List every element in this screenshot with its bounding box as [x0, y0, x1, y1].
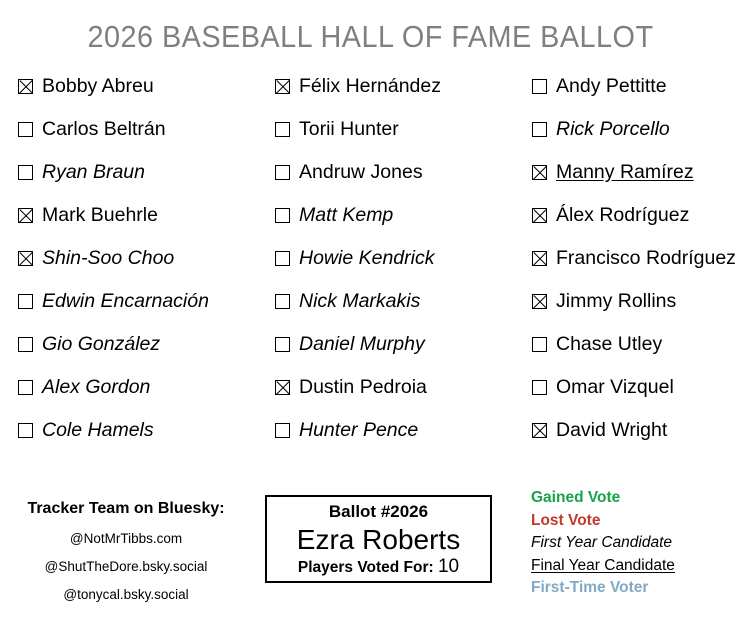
unchecked-checkbox-icon[interactable]	[532, 337, 547, 352]
unchecked-checkbox-icon[interactable]	[275, 337, 290, 352]
candidate-row[interactable]: Francisco Rodríguez	[532, 246, 737, 289]
checked-checkbox-icon[interactable]	[275, 380, 290, 395]
ballot-sheet: 2026 BASEBALL HALL OF FAME BALLOT Bobby …	[0, 0, 741, 633]
players-voted-for-label: Players Voted For:	[298, 559, 434, 576]
voter-name: Ezra Roberts	[267, 523, 490, 556]
unchecked-checkbox-icon[interactable]	[532, 79, 547, 94]
candidate-row[interactable]: Daniel Murphy	[275, 332, 527, 375]
candidate-name: Francisco Rodríguez	[556, 246, 736, 270]
candidate-name: Manny Ramírez	[556, 160, 694, 184]
unchecked-checkbox-icon[interactable]	[18, 337, 33, 352]
candidate-row[interactable]: Andy Pettitte	[532, 74, 737, 117]
candidate-column-2: Félix HernándezTorii HunterAndruw JonesM…	[275, 74, 527, 461]
candidate-row[interactable]: Torii Hunter	[275, 117, 527, 160]
candidate-name: Bobby Abreu	[42, 74, 154, 98]
tracker-handle[interactable]: @tonycal.bsky.social	[0, 585, 252, 604]
tracker-team-heading: Tracker Team on Bluesky:	[0, 498, 252, 520]
legend-item-firstyear: First Year Candidate	[531, 532, 675, 555]
candidate-name: Alex Gordon	[42, 375, 150, 399]
checked-checkbox-icon[interactable]	[275, 79, 290, 94]
legend-item-finalyear: Final Year Candidate	[531, 555, 675, 578]
checked-checkbox-icon[interactable]	[532, 251, 547, 266]
tracker-handle-list: @NotMrTibbs.com@ShutTheDore.bsky.social@…	[0, 529, 252, 604]
candidate-name: Ryan Braun	[42, 160, 145, 184]
legend: Gained VoteLost VoteFirst Year Candidate…	[531, 487, 675, 600]
unchecked-checkbox-icon[interactable]	[275, 122, 290, 137]
candidate-name: Cole Hamels	[42, 418, 154, 442]
candidate-row[interactable]: Matt Kemp	[275, 203, 527, 246]
candidate-row[interactable]: Chase Utley	[532, 332, 737, 375]
candidate-name: Gio González	[42, 332, 160, 356]
candidate-name: Torii Hunter	[299, 117, 399, 141]
ballot-id-box: Ballot #2026 Ezra Roberts Players Voted …	[265, 495, 492, 583]
tracker-team: Tracker Team on Bluesky: @NotMrTibbs.com…	[0, 498, 252, 613]
candidate-row[interactable]: Rick Porcello	[532, 117, 737, 160]
candidate-row[interactable]: Manny Ramírez	[532, 160, 737, 203]
checked-checkbox-icon[interactable]	[532, 294, 547, 309]
candidate-name: Carlos Beltrán	[42, 117, 166, 141]
candidate-row[interactable]: Hunter Pence	[275, 418, 527, 461]
ballot-number: Ballot #2026	[267, 501, 490, 523]
candidate-row[interactable]: Álex Rodríguez	[532, 203, 737, 246]
candidate-column-3: Andy PettitteRick PorcelloManny RamírezÁ…	[532, 74, 737, 461]
candidate-name: Nick Markakis	[299, 289, 420, 313]
candidate-row[interactable]: Ryan Braun	[18, 160, 268, 203]
candidate-row[interactable]: Andruw Jones	[275, 160, 527, 203]
legend-item-lost: Lost Vote	[531, 510, 675, 533]
candidate-row[interactable]: Alex Gordon	[18, 375, 268, 418]
candidate-row[interactable]: David Wright	[532, 418, 737, 461]
candidate-name: Chase Utley	[556, 332, 662, 356]
candidate-row[interactable]: Félix Hernández	[275, 74, 527, 117]
candidate-row[interactable]: Bobby Abreu	[18, 74, 268, 117]
candidate-row[interactable]: Carlos Beltrán	[18, 117, 268, 160]
legend-item-firsttime: First-Time Voter	[531, 577, 675, 600]
checked-checkbox-icon[interactable]	[532, 208, 547, 223]
candidate-column-1: Bobby AbreuCarlos BeltránRyan BraunMark …	[18, 74, 268, 461]
page-title: 2026 BASEBALL HALL OF FAME BALLOT	[26, 17, 715, 57]
candidate-name: Hunter Pence	[299, 418, 418, 442]
legend-item-gained: Gained Vote	[531, 487, 675, 510]
unchecked-checkbox-icon[interactable]	[18, 122, 33, 137]
tracker-handle[interactable]: @ShutTheDore.bsky.social	[0, 557, 252, 576]
candidate-row[interactable]: Howie Kendrick	[275, 246, 527, 289]
candidate-name: Félix Hernández	[299, 74, 441, 98]
candidate-row[interactable]: Cole Hamels	[18, 418, 268, 461]
unchecked-checkbox-icon[interactable]	[18, 380, 33, 395]
unchecked-checkbox-icon[interactable]	[275, 208, 290, 223]
candidate-name: Jimmy Rollins	[556, 289, 676, 313]
players-voted-for: Players Voted For: 10	[267, 556, 490, 579]
candidate-name: Andy Pettitte	[556, 74, 667, 98]
candidate-row[interactable]: Edwin Encarnación	[18, 289, 268, 332]
checked-checkbox-icon[interactable]	[18, 208, 33, 223]
checked-checkbox-icon[interactable]	[18, 251, 33, 266]
candidate-row[interactable]: Nick Markakis	[275, 289, 527, 332]
candidate-name: Dustin Pedroia	[299, 375, 427, 399]
candidate-row[interactable]: Jimmy Rollins	[532, 289, 737, 332]
unchecked-checkbox-icon[interactable]	[18, 294, 33, 309]
candidate-name: Howie Kendrick	[299, 246, 434, 270]
checked-checkbox-icon[interactable]	[532, 423, 547, 438]
candidate-name: Shin-Soo Choo	[42, 246, 174, 270]
candidate-name: Edwin Encarnación	[42, 289, 209, 313]
checked-checkbox-icon[interactable]	[18, 79, 33, 94]
candidate-name: Matt Kemp	[299, 203, 393, 227]
players-voted-for-count: 10	[438, 556, 459, 577]
checked-checkbox-icon[interactable]	[532, 165, 547, 180]
tracker-handle[interactable]: @NotMrTibbs.com	[0, 529, 252, 548]
candidate-name: Andruw Jones	[299, 160, 423, 184]
unchecked-checkbox-icon[interactable]	[275, 251, 290, 266]
unchecked-checkbox-icon[interactable]	[275, 165, 290, 180]
unchecked-checkbox-icon[interactable]	[18, 423, 33, 438]
unchecked-checkbox-icon[interactable]	[275, 423, 290, 438]
candidate-columns: Bobby AbreuCarlos BeltránRyan BraunMark …	[0, 74, 741, 452]
unchecked-checkbox-icon[interactable]	[532, 122, 547, 137]
candidate-row[interactable]: Gio González	[18, 332, 268, 375]
unchecked-checkbox-icon[interactable]	[532, 380, 547, 395]
candidate-name: David Wright	[556, 418, 667, 442]
candidate-name: Rick Porcello	[556, 117, 670, 141]
candidate-name: Mark Buehrle	[42, 203, 158, 227]
candidate-row[interactable]: Mark Buehrle	[18, 203, 268, 246]
candidate-name: Omar Vizquel	[556, 375, 674, 399]
candidate-row[interactable]: Omar Vizquel	[532, 375, 737, 418]
unchecked-checkbox-icon[interactable]	[275, 294, 290, 309]
candidate-row[interactable]: Shin-Soo Choo	[18, 246, 268, 289]
candidate-name: Álex Rodríguez	[556, 203, 689, 227]
unchecked-checkbox-icon[interactable]	[18, 165, 33, 180]
candidate-name: Daniel Murphy	[299, 332, 425, 356]
candidate-row[interactable]: Dustin Pedroia	[275, 375, 527, 418]
